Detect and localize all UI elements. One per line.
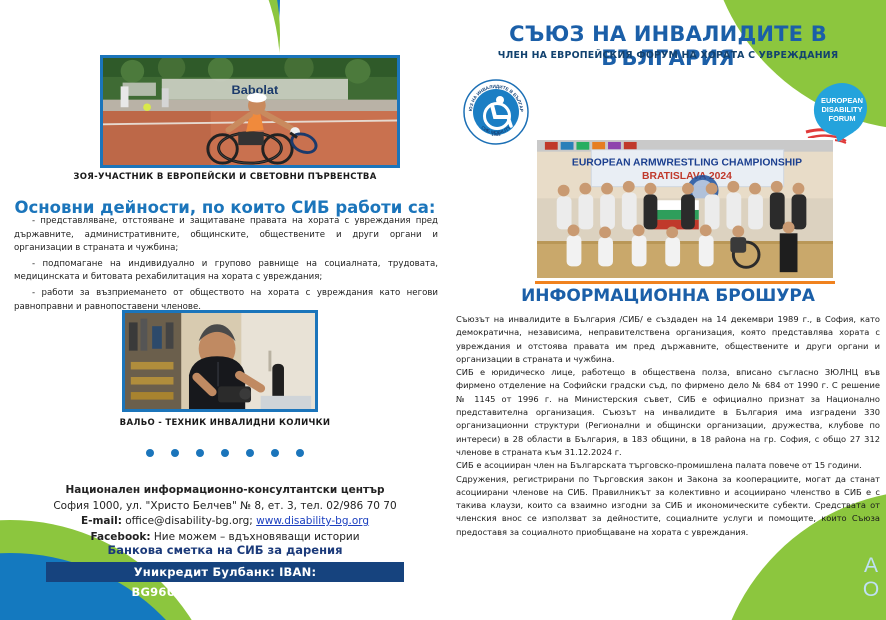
separator-dot	[296, 449, 304, 457]
photo-wheelchair-technician	[122, 310, 318, 412]
contact-center-name: Национален информационно-консултантски ц…	[0, 483, 450, 499]
separator-dot	[271, 449, 279, 457]
left-page: Babolat	[0, 0, 450, 620]
page-title: СЪЮЗ НА ИНВАЛИДИТЕ В БЪЛГАРИЯ	[450, 22, 886, 70]
email-label: E-mail:	[81, 515, 122, 527]
activity-item: - представляване, отстояване и защитаван…	[14, 215, 438, 256]
activity-item: - подпомагане на индивидуално и групово …	[14, 258, 438, 285]
right-page: СЪЮЗ НА ИНВАЛИДИТЕ В БЪЛГАРИЯ ЧЛЕН НА ЕВ…	[450, 0, 886, 620]
svg-text:EUROPEAN ARMWRESTLING CHAMPION: EUROPEAN ARMWRESTLING CHAMPIONSHIP	[572, 157, 802, 168]
svg-text:DISABILITY: DISABILITY	[821, 105, 862, 114]
photo-tennis-player: Babolat	[100, 55, 400, 168]
svg-text:FORUM: FORUM	[828, 114, 855, 123]
brochure-paragraph: СИБ е асоцииран член на Българската търг…	[456, 459, 880, 472]
contact-block: Национален информационно-консултантски ц…	[0, 483, 450, 545]
brochure-paragraph: Съюзът на инвалидите в България /СИБ/ е …	[456, 313, 880, 366]
photo-technician-caption: ВАЛЬО - ТЕХНИК ИНВАЛИДНИ КОЛИЧКИ	[0, 418, 450, 428]
contact-address: София 1000, ул. "Христо Белчев" № 8, ет.…	[0, 499, 450, 515]
separator-dot	[146, 449, 154, 457]
brochure-page: А О Babolat	[0, 0, 886, 620]
edf-logo: EUROPEAN DISABILITY FORUM	[804, 78, 876, 144]
svg-text:BRATISLAVA 2024: BRATISLAVA 2024	[642, 171, 732, 182]
activities-list: - представляване, отстояване и защитаван…	[14, 215, 438, 316]
title-rule	[535, 281, 835, 284]
website-link[interactable]: www.disability-bg.org	[256, 515, 369, 527]
photo-tennis-caption: ЗОЯ-УЧАСТНИК В ЕВРОПЕЙСКИ И СВЕТОВНИ ПЪР…	[0, 172, 450, 182]
brochure-paragraph: Сдружения, регистрирани по Търговския за…	[456, 473, 880, 539]
separator-dot	[171, 449, 179, 457]
page-subtitle: ЧЛЕН НА ЕВРОПЕЙСКИЯ ФОРУМ НА ХОРАТА С УВ…	[450, 50, 886, 61]
photo-armwrestling-team: EUROPEAN ARMWRESTLING CHAMPIONSHIP BRATI…	[535, 138, 835, 280]
brochure-paragraph: СИБ е юридическо лице, работещо в общест…	[456, 366, 880, 459]
dot-separator	[0, 442, 450, 461]
iban-bar: Уникредит Булбанк: IBAN: BG96UNCR7000152…	[46, 562, 404, 582]
svg-text:1989: 1989	[492, 132, 502, 137]
brochure-title: ИНФОРМАЦИОННА БРОШУРА	[450, 286, 886, 306]
email-value: office@disability-bg.org;	[125, 515, 253, 527]
sib-logo: СЪЮЗ НА ИНВАЛИДИТЕ В БЪЛГАРИЯ СИБ MOBILI…	[462, 78, 530, 146]
separator-dot	[246, 449, 254, 457]
contact-email-row: E-mail: office@disability-bg.org; www.di…	[0, 514, 450, 530]
separator-dot	[196, 449, 204, 457]
facebook-label: Facebook:	[90, 531, 150, 543]
facebook-value: Ние можем – вдъхновяващи истории	[154, 531, 360, 543]
svg-text:EUROPEAN: EUROPEAN	[821, 96, 863, 105]
bank-account-title: Банкова сметка на СИБ за дарения	[0, 543, 450, 557]
brochure-text: Съюзът на инвалидите в България /СИБ/ е …	[456, 313, 880, 539]
separator-dot	[221, 449, 229, 457]
